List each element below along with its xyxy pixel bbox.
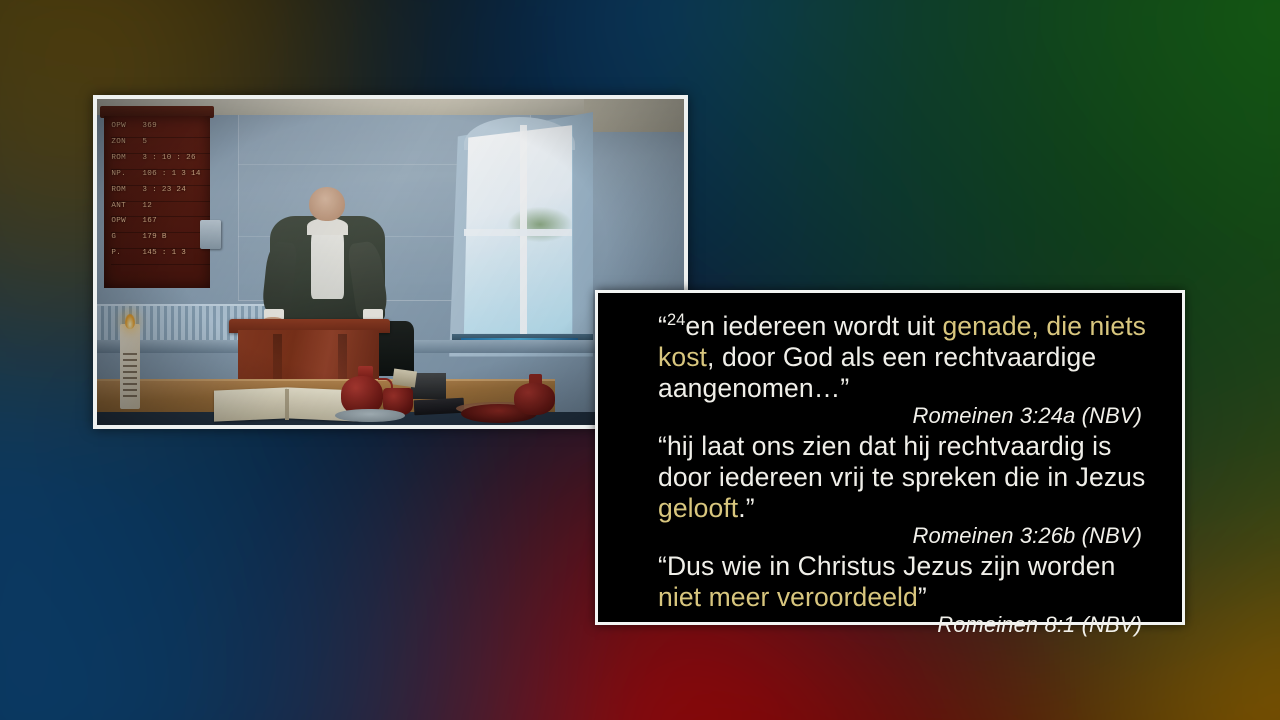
hymn-row-key: P. bbox=[111, 249, 142, 257]
verse-segment: en iedereen wordt uit bbox=[685, 311, 942, 341]
hymn-row-key: OPW bbox=[111, 217, 142, 225]
hymn-row-value: 167 bbox=[142, 217, 157, 225]
hymn-row-value: 3 : 10 : 26 bbox=[142, 154, 195, 162]
hymn-row-key: OPW bbox=[111, 122, 142, 130]
verse-text: “24en iedereen wordt uit genade, die nie… bbox=[658, 311, 1160, 404]
verse-segment: hij laat ons zien dat hij rechtvaardig i… bbox=[658, 431, 1145, 492]
preacher-head bbox=[309, 187, 344, 221]
hymn-row-value: 3 : 23 24 bbox=[142, 186, 186, 194]
verse-highlight: gelooft bbox=[658, 493, 738, 523]
verse-attribution: Romeinen 8:1 (NBV) bbox=[658, 612, 1160, 638]
hymn-row-value: 12 bbox=[142, 202, 152, 210]
verse-highlight: niet meer veroordeeld bbox=[658, 582, 918, 612]
hymn-row-key: ROM bbox=[111, 154, 142, 162]
verse-attribution: Romeinen 3:26b (NBV) bbox=[658, 523, 1160, 549]
hymn-board-face: OPW 369 ZON 5 ROM 3 : 10 : 26 NP. 106 : … bbox=[104, 116, 210, 288]
hymn-row-key: ANT bbox=[111, 202, 142, 210]
hymn-board-row: OPW 167 bbox=[111, 217, 209, 233]
verse-attribution: Romeinen 3:24a (NBV) bbox=[658, 403, 1160, 429]
hymn-row-key: ZON bbox=[111, 138, 142, 146]
second-jug bbox=[514, 383, 555, 416]
hymn-row-value: 369 bbox=[142, 122, 157, 130]
hymn-board-row: P. 145 : 1 3 bbox=[111, 249, 209, 265]
verse-segment: , door God als een rechtvaardige aangeno… bbox=[658, 342, 1096, 403]
hymn-row-value: 179 B bbox=[142, 233, 166, 241]
verse-text: “Dus wie in Christus Jezus zijn worden n… bbox=[658, 551, 1160, 613]
window-foliage bbox=[508, 207, 573, 243]
wall-switch-box bbox=[200, 220, 221, 249]
open-quote: “ bbox=[658, 431, 667, 461]
verse-number: 24 bbox=[667, 311, 685, 329]
presentation-stage: OPW 369 ZON 5 ROM 3 : 10 : 26 NP. 106 : … bbox=[0, 0, 1280, 720]
hymn-board-row: ZON 5 bbox=[111, 138, 209, 154]
hymn-board-row: NP. 106 : 1 3 14 bbox=[111, 170, 209, 186]
candle-flame bbox=[125, 314, 135, 329]
hymn-board-row: ROM 3 : 23 24 bbox=[111, 186, 209, 202]
verse-block: “Dus wie in Christus Jezus zijn worden n… bbox=[658, 551, 1160, 639]
hymn-board: OPW 369 ZON 5 ROM 3 : 10 : 26 NP. 106 : … bbox=[104, 106, 210, 289]
open-quote: “ bbox=[658, 311, 667, 341]
hymn-board-row: ROM 3 : 10 : 26 bbox=[111, 154, 209, 170]
candle-markings bbox=[123, 353, 137, 399]
open-bible-spine bbox=[285, 389, 289, 420]
scripture-overlay: “24en iedereen wordt uit genade, die nie… bbox=[595, 290, 1185, 625]
hymn-board-row: ANT 12 bbox=[111, 202, 209, 218]
ceiling-beam-right bbox=[584, 99, 684, 132]
verse-block: “24en iedereen wordt uit genade, die nie… bbox=[658, 311, 1160, 430]
verse-text: “hij laat ons zien dat hij rechtvaardig … bbox=[658, 431, 1160, 524]
hymn-row-key: NP. bbox=[111, 170, 142, 178]
hymn-row-value: 5 bbox=[142, 138, 147, 146]
hymn-board-row: OPW 369 bbox=[111, 122, 209, 138]
verse-segment: .” bbox=[738, 493, 754, 523]
open-bible-left-page bbox=[214, 388, 287, 422]
open-quote: “ bbox=[658, 551, 667, 581]
small-booklet bbox=[392, 368, 418, 387]
hymn-row-key: ROM bbox=[111, 186, 142, 194]
verse-block: “hij laat ons zien dat hij rechtvaardig … bbox=[658, 431, 1160, 550]
hymn-board-row: G 179 B bbox=[111, 233, 209, 249]
hymn-row-value: 106 : 1 3 14 bbox=[142, 170, 200, 178]
hymn-row-key: G bbox=[111, 233, 142, 241]
window-mullion-horizontal bbox=[464, 229, 573, 236]
verse-segment: ” bbox=[918, 582, 927, 612]
verse-segment: Dus wie in Christus Jezus zijn worden bbox=[667, 551, 1115, 581]
hymn-row-value: 145 : 1 3 bbox=[142, 249, 186, 257]
